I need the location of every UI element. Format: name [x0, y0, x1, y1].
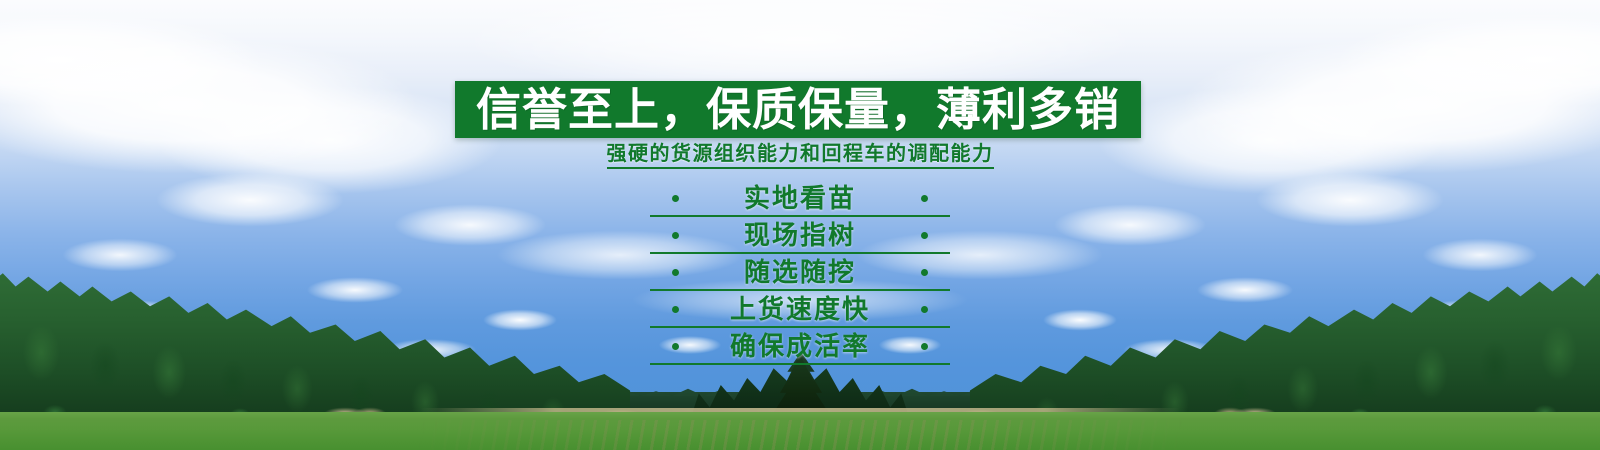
feature-item: 上货速度快 — [650, 291, 950, 328]
subtitle-text: 强硬的货源组织能力和回程车的调配能力 — [607, 143, 994, 169]
bullet-dot-icon — [921, 232, 928, 239]
feature-label: 上货速度快 — [730, 296, 870, 322]
feature-item: 随选随挖 — [650, 254, 950, 291]
bullet-dot-icon — [672, 232, 679, 239]
feature-item: 现场指树 — [650, 217, 950, 254]
feature-label: 随选随挖 — [744, 259, 856, 285]
feature-list: 实地看苗 现场指树 随选随挖 上货速度快 确保成活率 — [650, 180, 950, 365]
feature-label: 确保成活率 — [730, 333, 870, 359]
bullet-dot-icon — [921, 306, 928, 313]
headline-banner: 信誉至上，保质保量，薄利多销 — [455, 81, 1141, 138]
crop-furrows — [0, 420, 1600, 450]
bullet-dot-icon — [672, 306, 679, 313]
feature-item: 确保成活率 — [650, 328, 950, 365]
feature-label: 现场指树 — [744, 222, 856, 248]
bullet-dot-icon — [672, 343, 679, 350]
bullet-dot-icon — [921, 195, 928, 202]
feature-item: 实地看苗 — [650, 180, 950, 217]
bullet-dot-icon — [672, 269, 679, 276]
promotional-banner: 信誉至上，保质保量，薄利多销 强硬的货源组织能力和回程车的调配能力 实地看苗 现… — [0, 0, 1600, 450]
feature-label: 实地看苗 — [744, 185, 856, 211]
subtitle-row: 强硬的货源组织能力和回程车的调配能力 — [0, 143, 1600, 169]
bullet-dot-icon — [921, 343, 928, 350]
headline-text: 信誉至上，保质保量，薄利多销 — [476, 87, 1120, 132]
bullet-dot-icon — [672, 195, 679, 202]
bullet-dot-icon — [921, 269, 928, 276]
